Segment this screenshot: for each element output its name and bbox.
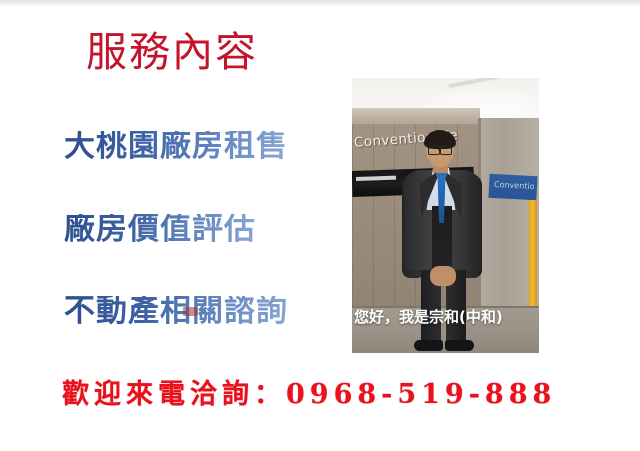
photo-person-left-shoe (414, 340, 443, 351)
page-title: 服務內容 (86, 32, 258, 73)
photo-wood-wall-header (352, 108, 480, 124)
photo-caption: 您好，我是宗和(中和) (354, 306, 539, 327)
photo-person-glasses-right-lens (440, 146, 452, 155)
photo-person-hands (430, 266, 456, 286)
top-edge-band (0, 0, 640, 6)
contact-phone-line: 歡迎來電洽詢：0968-519-888 (62, 372, 556, 411)
slide-canvas: 服務內容 大桃園廠房租售 廠房價值評估 不動產相關諮詢 歡迎來電洽詢：0968-… (0, 0, 640, 451)
service-bullet-2: 廠房價值評估 (64, 214, 256, 245)
photo-person-glasses-bridge (438, 149, 441, 150)
photo-person-glasses-left-lens (428, 146, 440, 155)
service-bullet-3: 不動產相關諮詢 (64, 296, 288, 327)
service-bullet-1: 大桃園廠房租售 (64, 131, 288, 162)
overlay-smudge-mark (183, 307, 198, 316)
profile-photo: Convention Ce Convention 您好，我是宗和(中和) (352, 78, 539, 353)
photo-person-right-shoe (445, 340, 474, 351)
